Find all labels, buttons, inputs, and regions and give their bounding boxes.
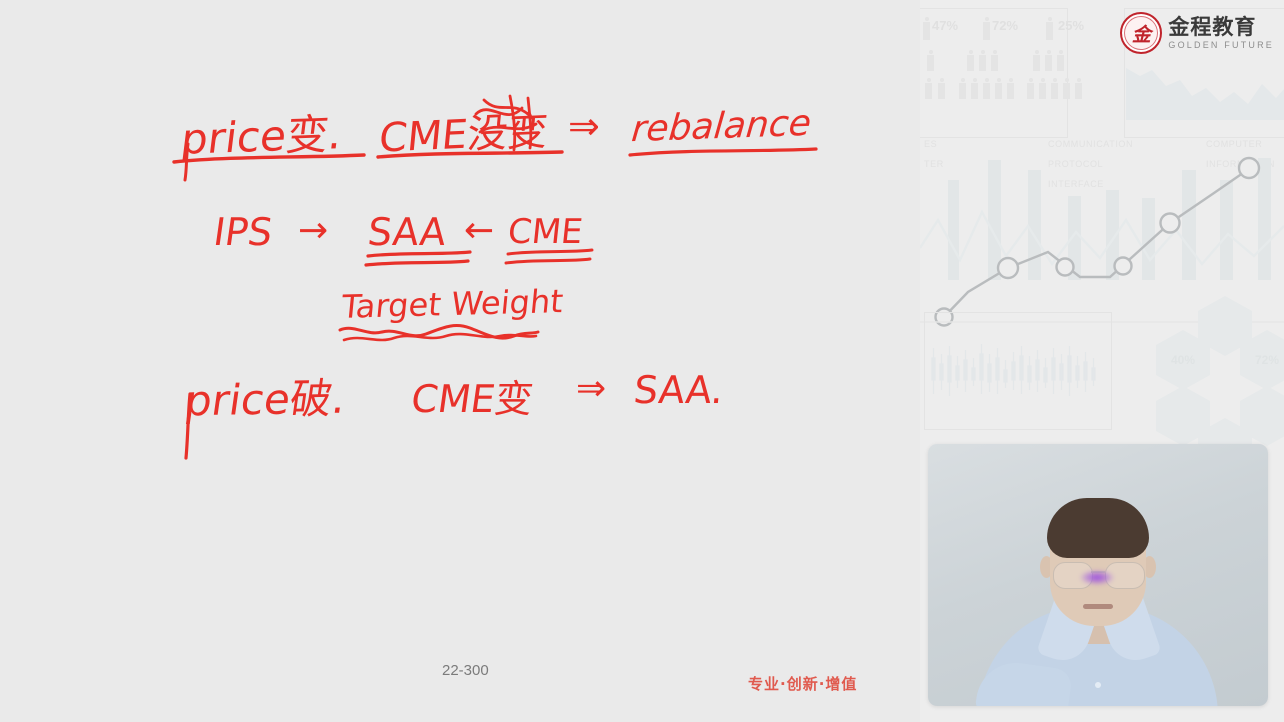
person-icon — [1046, 22, 1053, 40]
person-icon — [1039, 83, 1046, 99]
person-icon — [1027, 83, 1034, 99]
logo-name-en: GOLDEN FUTURE — [1168, 41, 1274, 50]
instructor-video-feed[interactable] — [928, 444, 1268, 706]
person-icon — [1007, 83, 1014, 99]
person-icon — [995, 83, 1002, 99]
person-icon — [991, 55, 998, 71]
person-icon — [938, 83, 945, 99]
person-icon — [1033, 55, 1040, 71]
person-icon — [971, 83, 978, 99]
person-icon — [959, 83, 966, 99]
screen-glare-reflection — [1080, 570, 1114, 585]
lecture-recording-screen: 47% 72% 25% ES TER — [0, 0, 1284, 722]
person-icon — [967, 55, 974, 71]
person-icon — [923, 22, 930, 40]
instructor-mouth — [1083, 604, 1113, 609]
shirt-button — [1095, 682, 1101, 688]
person-icon — [925, 83, 932, 99]
brand-logo: 金 金程教育 GOLDEN FUTURE — [1120, 12, 1274, 54]
faded-candlestick-chart — [928, 336, 1106, 408]
logo-seal-icon: 金 — [1120, 12, 1162, 54]
person-icon — [1051, 83, 1058, 99]
instructor-hair — [1047, 498, 1149, 558]
logo-name-cn: 金程教育 — [1168, 17, 1274, 38]
watermark-stat-1: 72% — [992, 18, 1018, 33]
person-icon — [1057, 55, 1064, 71]
person-icon — [927, 55, 934, 71]
watermark-stat-0: 47% — [932, 18, 958, 33]
watermark-stat-2: 25% — [1058, 18, 1084, 33]
person-icon — [1063, 83, 1070, 99]
person-icon — [1045, 55, 1052, 71]
person-icon — [983, 22, 990, 40]
person-icon — [1075, 83, 1082, 99]
slide-number: 22-300 — [442, 662, 489, 679]
person-icon — [983, 83, 990, 99]
footer-slogan: 专业·创新·增值 — [748, 673, 857, 694]
person-icon — [979, 55, 986, 71]
